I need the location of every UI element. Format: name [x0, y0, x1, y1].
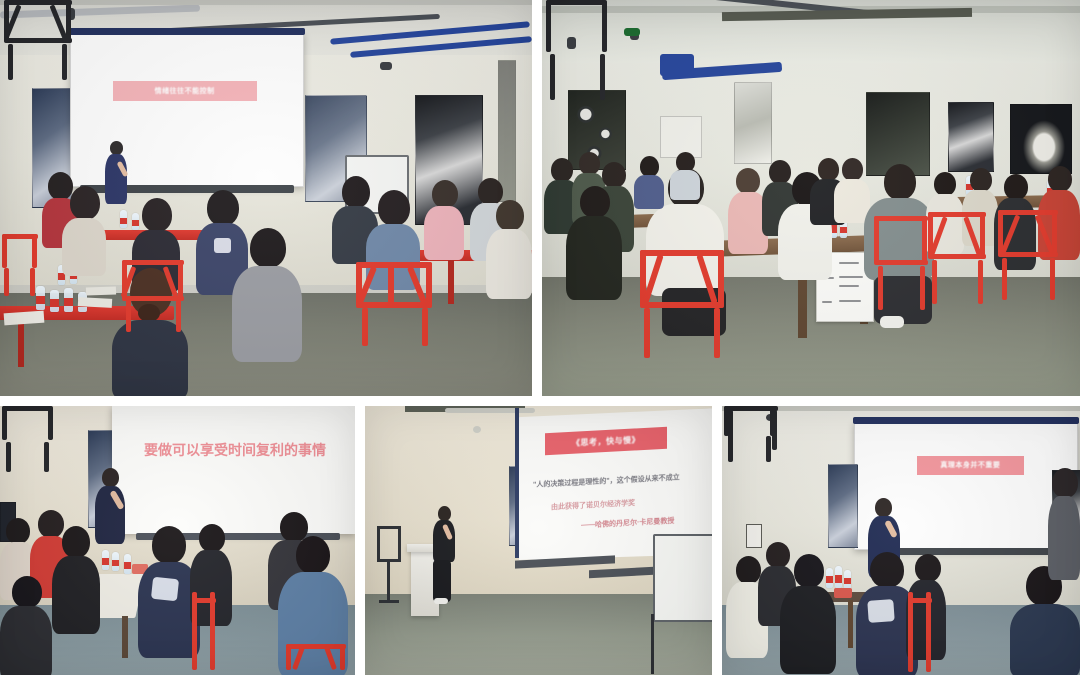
wall-art-navy: [828, 464, 858, 548]
wall-art-light: [734, 82, 772, 164]
water-bottle: [835, 566, 842, 588]
chair-red: [994, 210, 1062, 300]
audience-member: [566, 186, 622, 298]
water-bottle: [844, 570, 851, 589]
easel: [377, 526, 401, 602]
slide-title-band: 《思考，快与慢》: [545, 427, 667, 455]
speaker: [104, 141, 128, 203]
ceiling-exit-sign: [624, 28, 640, 36]
chair-red: [284, 644, 350, 675]
chair-red: [924, 212, 990, 304]
audience-member: [0, 576, 52, 675]
audience-member: [780, 554, 836, 672]
audience-member: [670, 152, 700, 198]
ceiling-beam: [0, 0, 532, 5]
flipchart: [653, 534, 712, 622]
slide-headline: 要做可以享受时间复利的事情: [144, 440, 326, 460]
ceiling-duct-blue-2: [660, 54, 694, 76]
chair-red: [352, 262, 438, 346]
water-bottle: [124, 554, 131, 574]
wall-art-pear: [1010, 104, 1072, 174]
audience-member: [424, 180, 464, 256]
ceiling-spotlight-2: [380, 62, 392, 70]
photo-top-left[interactable]: 情绪往往不能控制: [0, 0, 532, 396]
audience-member: [232, 228, 302, 360]
audience-member: [634, 156, 664, 206]
photo-bottom-center[interactable]: 《思考，快与慢》 "人的决策过程是理性的"，这个假设从来不成立 由此获得了诺贝尔…: [365, 406, 712, 675]
audience-member: [62, 186, 106, 268]
slide-title-text: 情绪往往不能控制: [155, 86, 215, 96]
wall-art-bw: [948, 102, 994, 172]
slide-body-line-3: ——哈佛的丹尼尔·卡尼曼教授: [581, 516, 674, 531]
water-bottle: [120, 210, 127, 228]
chair-red: [870, 216, 932, 310]
chair-red: [908, 592, 934, 672]
photo-top-right[interactable]: [542, 0, 1080, 396]
projection-screen: 要做可以享受时间复利的事情: [112, 406, 355, 534]
audience-member: [1048, 468, 1080, 578]
chair-red: [0, 234, 40, 296]
audience-member: [486, 200, 532, 296]
slide-body-line-1: "人的决策过程是理性的"，这个假设从来不成立: [533, 472, 680, 490]
photo-bottom-right[interactable]: 真理本身并不重要: [722, 406, 1080, 675]
audience-member: [52, 526, 100, 630]
photo-bottom-left[interactable]: 要做可以享受时间复利的事情: [0, 406, 355, 675]
chair-red: [118, 260, 188, 332]
slide-title-text: 《思考，快与慢》: [572, 434, 640, 449]
water-bottle: [102, 550, 109, 570]
photo-collage: 情绪往往不能控制: [0, 0, 1080, 675]
water-bottle: [112, 552, 119, 571]
ceiling-pipe: [445, 408, 535, 413]
chair-red: [192, 592, 218, 670]
slide-title-band: 情绪往往不能控制: [113, 81, 257, 101]
slide-title-text: 真理本身并不重要: [940, 460, 1000, 470]
slide-body-line-2: 由此获得了诺贝尔经济学奖: [551, 498, 635, 512]
speaker: [433, 506, 455, 604]
chair-red: [634, 250, 730, 358]
water-bottle: [50, 290, 59, 312]
ceiling-camera: [473, 426, 481, 433]
ceiling-spotlight-2: [567, 37, 576, 49]
slide-title-band: 真理本身并不重要: [917, 456, 1024, 475]
water-bottle: [64, 288, 73, 312]
audience-member: [1010, 566, 1080, 675]
